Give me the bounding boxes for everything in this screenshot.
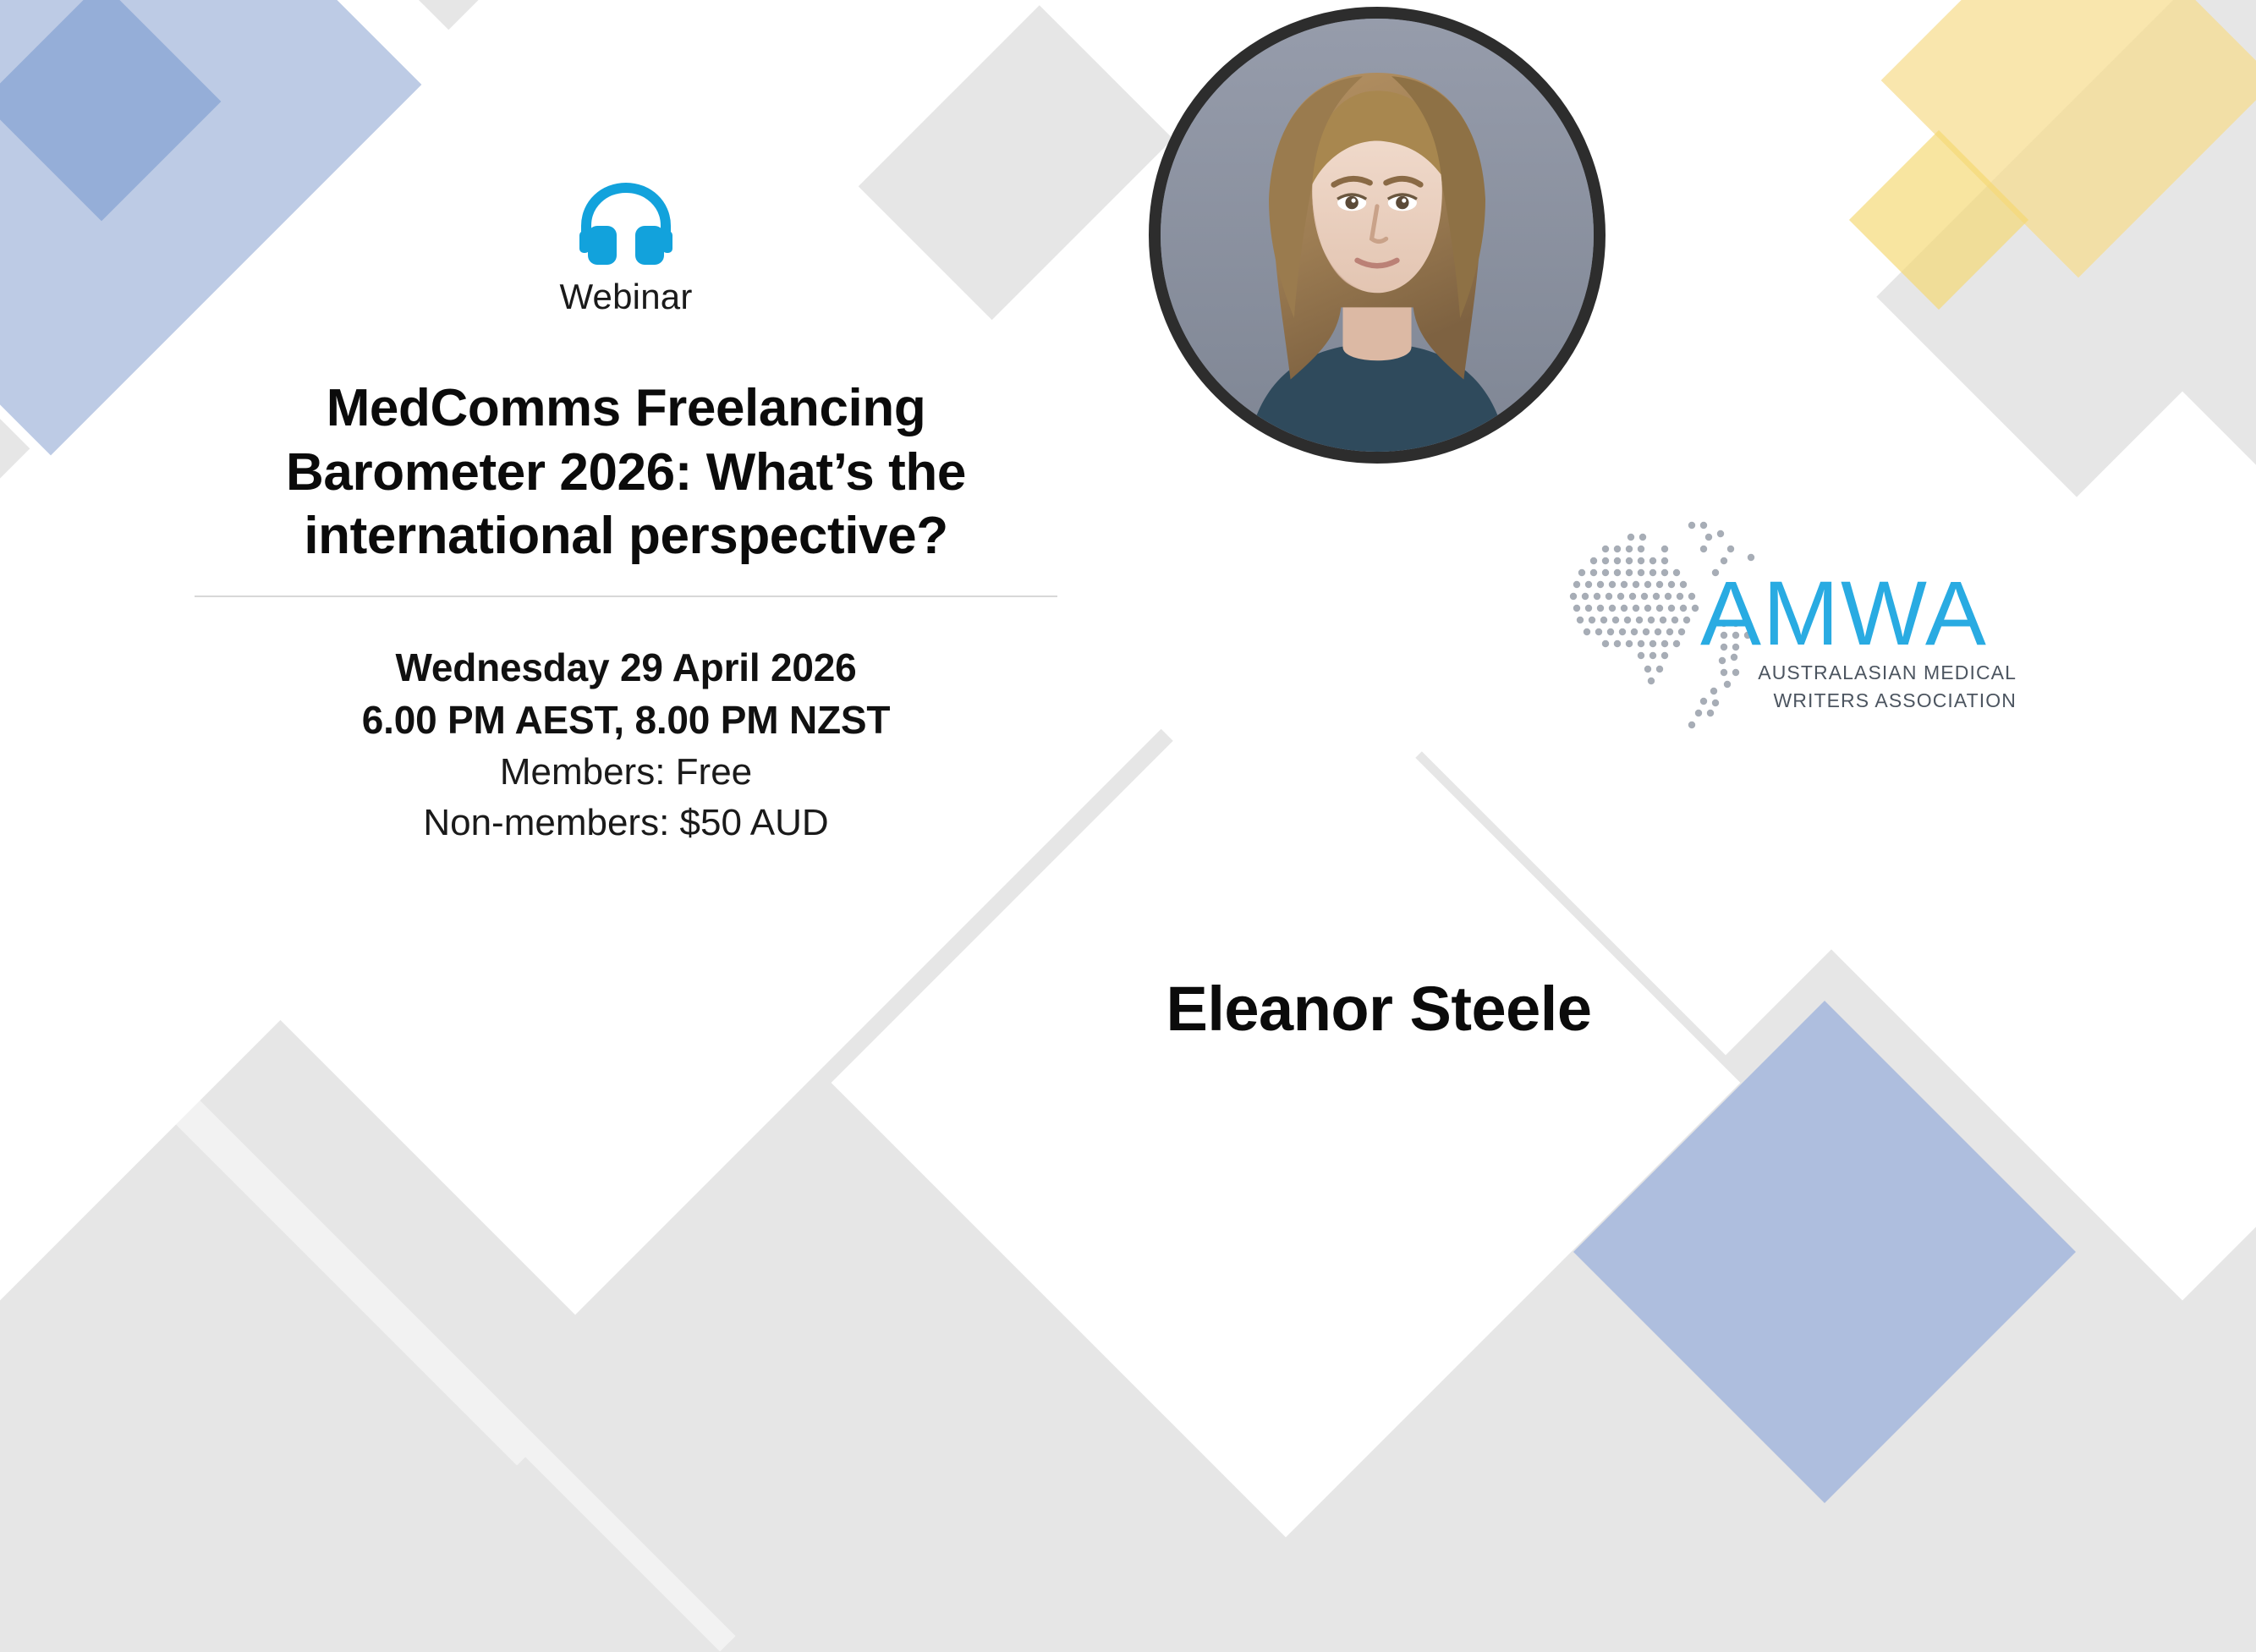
amwa-tagline-line-1: AUSTRALASIAN MEDICAL: [1748, 659, 2017, 687]
headshot-photo: [1161, 19, 1594, 452]
amwa-wordmark: AMWA: [1700, 568, 1988, 659]
title-divider: [195, 595, 1057, 597]
amwa-tagline-line-2: WRITERS ASSOCIATION: [1748, 687, 2017, 715]
amwa-tagline: AUSTRALASIAN MEDICAL WRITERS ASSOCIATION: [1748, 659, 2017, 714]
page-title: MedComms Freelancing Barometer 2026: Wha…: [199, 376, 1053, 568]
price-members: Members: Free: [127, 747, 1125, 798]
event-info-block: Webinar MedComms Freelancing Barometer 2…: [127, 182, 1125, 848]
speaker-name: Eleanor Steele: [998, 973, 1759, 1045]
speaker-headshot: [1149, 7, 1606, 464]
price-non-members: Non-members: $50 AUD: [127, 798, 1125, 848]
headphones-icon: [576, 182, 676, 270]
event-date: Wednesday 29 April 2026: [127, 641, 1125, 694]
event-time: 6.00 PM AEST, 8.00 PM NZST: [127, 694, 1125, 747]
event-details: Wednesday 29 April 2026 6.00 PM AEST, 8.…: [127, 641, 1125, 848]
format-label: Webinar: [127, 277, 1125, 317]
amwa-logo: AMWA AUSTRALASIAN MEDICAL WRITERS ASSOCI…: [1546, 493, 2024, 741]
